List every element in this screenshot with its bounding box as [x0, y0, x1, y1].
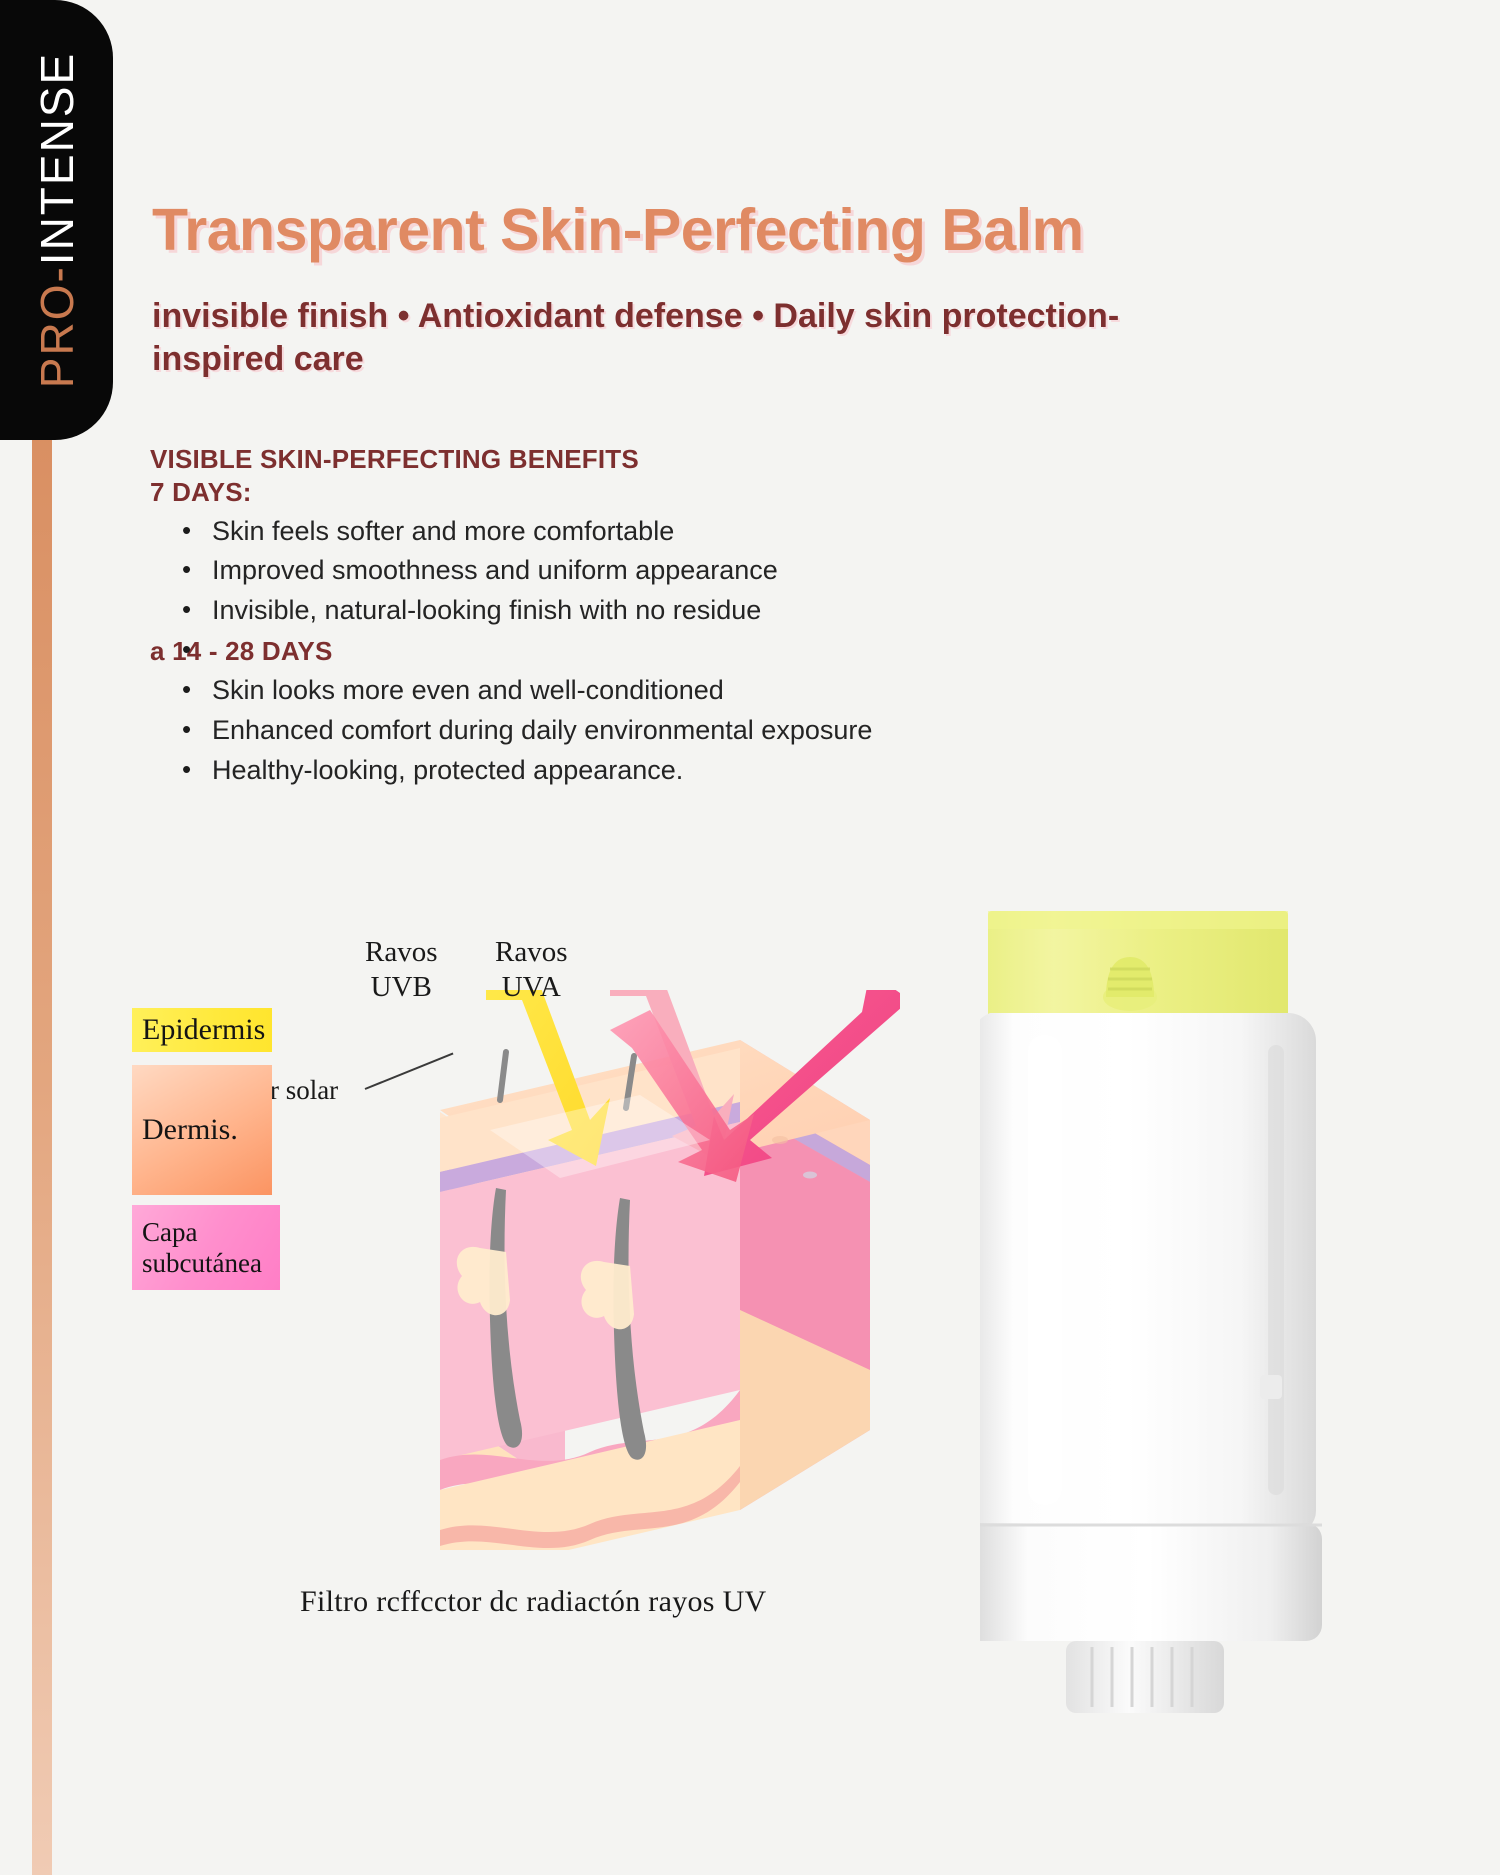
- page-subtitle: invisible finish • Antioxidant defense •…: [152, 295, 1212, 380]
- legend-label-capa-line2: subcutánea: [142, 1248, 262, 1278]
- label-ray-uva-line2: UVA: [495, 970, 568, 1005]
- benefits-list-7-days: Skin feels softer and more comfortable I…: [150, 512, 1250, 632]
- benefits-list-14-28-days: Skin looks more even and well-conditione…: [150, 671, 1250, 791]
- benefits-period-1-label: 7 DAYS:: [150, 476, 1250, 509]
- brand-text: PRO-INTENSE: [30, 52, 84, 388]
- list-item: Invisible, natural-looking finish with n…: [208, 591, 1250, 631]
- skin-cross-section-diagram: Ravos UVB Ravos UVA Prcfcctor solar Epid…: [150, 960, 940, 1660]
- list-item: Improved smoothness and uniform appearan…: [208, 551, 1250, 591]
- list-item: Skin looks more even and well-conditione…: [208, 671, 1250, 711]
- label-ray-uvb-line2: UVB: [365, 970, 438, 1005]
- product-image-balm-stick: [980, 905, 1400, 1745]
- diagram-caption: Filtro rcffcctor dc radiactón rayos UV: [300, 1585, 767, 1619]
- legend-label-dermis: Dermis.: [142, 1113, 238, 1147]
- legend-label-epidermis: Epidermis: [142, 1013, 265, 1047]
- list-item: Skin feels softer and more comfortable: [208, 512, 1250, 552]
- benefits-period-2-label: a 14 - 28 DAYS: [150, 635, 1250, 668]
- label-ray-uvb: Ravos UVB: [365, 935, 438, 1006]
- legend-swatch-epidermis: Epidermis: [132, 1008, 272, 1052]
- poster-page: PRO-INTENSE Transparent Skin-Perfecting …: [0, 0, 1500, 1875]
- benefits-heading: VISIBLE SKIN-PERFECTING BENEFITS: [150, 443, 1250, 476]
- page-title: Transparent Skin-Perfecting Balm: [152, 200, 1332, 262]
- side-accent-stripe: [32, 430, 52, 1875]
- brand-suffix: INTENSE: [31, 52, 83, 265]
- legend-label-capa-line1: Capa: [142, 1217, 262, 1247]
- benefits-section: VISIBLE SKIN-PERFECTING BENEFITS 7 DAYS:…: [150, 443, 1250, 791]
- brand-tab: PRO-INTENSE: [0, 0, 113, 440]
- label-ray-uva: Ravos UVA: [495, 935, 568, 1006]
- label-ray-uvb-line1: Ravos: [365, 935, 438, 970]
- legend-swatch-dermis: Dermis.: [132, 1065, 272, 1195]
- list-item: Enhanced comfort during daily environmen…: [208, 711, 1250, 751]
- label-ray-uva-line1: Ravos: [495, 935, 568, 970]
- list-item: Healthy-looking, protected appearance.: [208, 751, 1250, 791]
- brand-prefix: PRO-: [31, 265, 83, 388]
- legend-swatch-capa-subcutanea: Capa subcutánea: [132, 1205, 280, 1290]
